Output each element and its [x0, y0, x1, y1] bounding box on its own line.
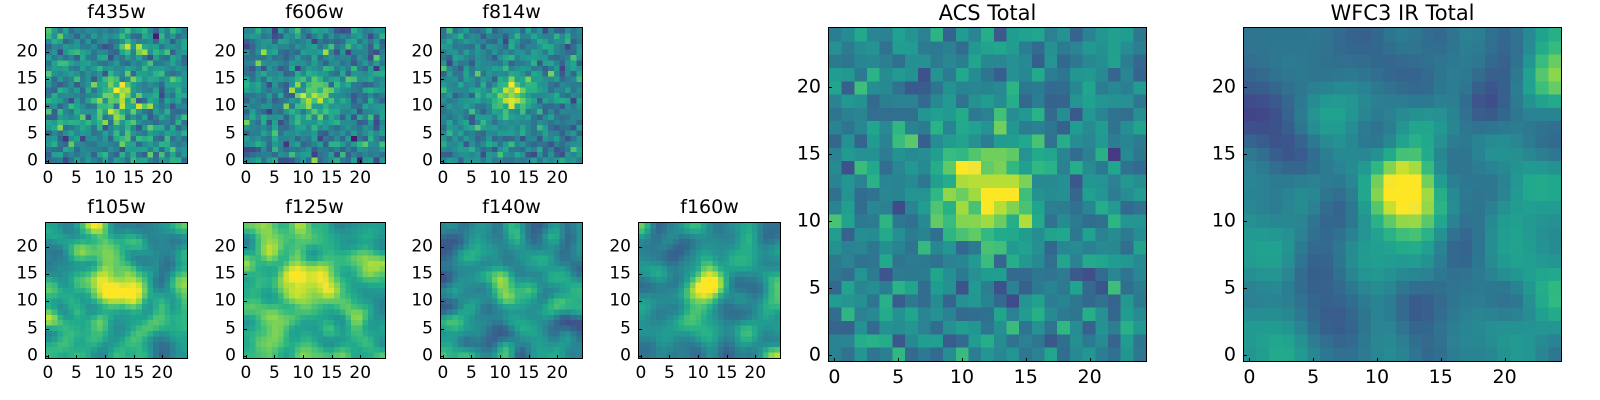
y-tick-label: 5	[422, 320, 433, 337]
y-tick-label: 20	[214, 43, 236, 60]
panel-f105w: f105w0510152005101520	[1, 196, 194, 393]
x-tick-label: 0	[42, 365, 53, 382]
x-tick-label: 10	[292, 365, 314, 382]
x-tick	[105, 160, 106, 164]
x-tick-label: 20	[546, 170, 568, 187]
x-tick-label: 20	[546, 365, 568, 382]
y-tick	[243, 301, 247, 302]
y-tick	[638, 247, 642, 248]
y-tick-label: 15	[609, 266, 631, 283]
y-tick-label: 10	[16, 293, 38, 310]
panel-title-f140w: f140w	[440, 198, 583, 217]
y-tick	[638, 301, 642, 302]
y-tick-label: 15	[214, 266, 236, 283]
y-tick	[243, 356, 247, 357]
panel-f435w: f435w0510152005101520	[1, 1, 194, 198]
x-tick	[134, 355, 135, 359]
y-tick	[638, 274, 642, 275]
x-tick-label: 0	[828, 368, 840, 387]
x-tick-label: 0	[42, 170, 53, 187]
x-tick-label: 20	[1077, 368, 1101, 387]
panel-f814w: f814w0510152005101520	[396, 1, 589, 198]
panel-title-f125w: f125w	[243, 198, 386, 217]
heatmap-wfc3_total[interactable]	[1243, 27, 1562, 362]
panel-f125w: f125w0510152005101520	[199, 196, 392, 393]
x-tick	[162, 355, 163, 359]
x-tick	[529, 160, 530, 164]
y-tick-label: 0	[27, 348, 38, 365]
x-tick-label: 15	[321, 170, 343, 187]
x-tick	[303, 355, 304, 359]
heatmap-f140w[interactable]	[440, 222, 583, 359]
x-tick	[1249, 358, 1250, 362]
y-tick	[828, 221, 832, 222]
y-tick	[243, 329, 247, 330]
y-tick-label: 20	[1212, 78, 1236, 97]
y-tick-label: 10	[797, 212, 821, 231]
y-tick-label: 15	[411, 266, 433, 283]
y-tick-label: 20	[411, 43, 433, 60]
x-tick-label: 10	[950, 368, 974, 387]
x-tick-label: 5	[71, 365, 82, 382]
x-tick	[360, 355, 361, 359]
y-tick-label: 15	[797, 145, 821, 164]
y-tick	[440, 161, 444, 162]
panel-f606w: f606w0510152005101520	[199, 1, 392, 198]
x-tick	[1441, 358, 1442, 362]
panel-title-f160w: f160w	[638, 198, 781, 217]
x-tick	[500, 355, 501, 359]
x-tick-label: 15	[518, 170, 540, 187]
y-tick-label: 5	[422, 125, 433, 142]
y-tick-label: 5	[27, 125, 38, 142]
y-tick-label: 10	[1212, 212, 1236, 231]
y-tick	[45, 161, 49, 162]
heatmap-f606w[interactable]	[243, 27, 386, 164]
x-tick	[1090, 358, 1091, 362]
panel-f140w: f140w0510152005101520	[396, 196, 589, 393]
y-tick-label: 0	[27, 153, 38, 170]
heatmap-canvas-f140w	[441, 223, 582, 358]
x-tick	[274, 160, 275, 164]
y-tick-label: 10	[609, 293, 631, 310]
heatmap-canvas-f606w	[244, 28, 385, 163]
x-tick-label: 10	[489, 170, 511, 187]
x-tick	[698, 355, 699, 359]
y-tick-label: 0	[1224, 346, 1236, 365]
x-tick	[1377, 358, 1378, 362]
x-tick-label: 15	[321, 365, 343, 382]
panel-title-acs_total: ACS Total	[828, 3, 1147, 24]
x-tick-label: 15	[123, 365, 145, 382]
x-tick-label: 20	[349, 170, 371, 187]
y-tick	[243, 52, 247, 53]
x-tick	[557, 355, 558, 359]
x-tick	[303, 160, 304, 164]
x-tick	[834, 358, 835, 362]
y-tick	[243, 106, 247, 107]
y-tick-label: 5	[1224, 279, 1236, 298]
y-tick-label: 20	[16, 43, 38, 60]
x-tick-label: 15	[1429, 368, 1453, 387]
y-tick-label: 15	[411, 71, 433, 88]
x-tick-label: 10	[687, 365, 709, 382]
y-tick	[45, 356, 49, 357]
panel-title-f435w: f435w	[45, 3, 188, 22]
heatmap-f125w[interactable]	[243, 222, 386, 359]
x-tick-label: 0	[240, 365, 251, 382]
x-tick-label: 0	[240, 170, 251, 187]
y-tick	[440, 247, 444, 248]
y-tick	[45, 329, 49, 330]
x-tick-label: 0	[437, 365, 448, 382]
panel-title-f105w: f105w	[45, 198, 188, 217]
heatmap-canvas-f435w	[46, 28, 187, 163]
y-tick-label: 5	[225, 125, 236, 142]
y-tick	[440, 106, 444, 107]
x-tick-label: 15	[1014, 368, 1038, 387]
y-tick	[45, 134, 49, 135]
x-tick	[105, 355, 106, 359]
y-tick-label: 5	[225, 320, 236, 337]
heatmap-f435w[interactable]	[45, 27, 188, 164]
panel-title-wfc3_total: WFC3 IR Total	[1243, 3, 1562, 24]
panel-title-f814w: f814w	[440, 3, 583, 22]
x-tick-label: 10	[489, 365, 511, 382]
x-tick	[76, 160, 77, 164]
y-tick-label: 0	[809, 346, 821, 365]
y-tick	[440, 274, 444, 275]
y-tick	[440, 52, 444, 53]
y-tick	[828, 87, 832, 88]
x-tick	[360, 160, 361, 164]
x-tick-label: 20	[151, 365, 173, 382]
x-tick-label: 5	[269, 365, 280, 382]
y-tick-label: 15	[1212, 145, 1236, 164]
x-tick	[529, 355, 530, 359]
x-tick-label: 10	[94, 170, 116, 187]
heatmap-f105w[interactable]	[45, 222, 188, 359]
panel-wfc3_total: WFC3 IR Total0510152005101520	[1199, 1, 1568, 396]
x-tick	[500, 160, 501, 164]
heatmap-f160w[interactable]	[638, 222, 781, 359]
y-tick	[243, 274, 247, 275]
x-tick-label: 5	[664, 365, 675, 382]
x-tick-label: 10	[94, 365, 116, 382]
x-tick	[1313, 358, 1314, 362]
panel-acs_total: ACS Total0510152005101520	[784, 1, 1153, 396]
y-tick	[45, 247, 49, 248]
y-tick-label: 10	[214, 98, 236, 115]
y-tick-label: 5	[27, 320, 38, 337]
x-tick	[134, 160, 135, 164]
x-tick	[471, 355, 472, 359]
x-tick	[1505, 358, 1506, 362]
y-tick-label: 0	[422, 153, 433, 170]
y-tick	[828, 355, 832, 356]
y-tick-label: 5	[620, 320, 631, 337]
heatmap-acs_total[interactable]	[828, 27, 1147, 362]
y-tick	[1243, 355, 1247, 356]
y-tick	[1243, 221, 1247, 222]
x-tick-label: 15	[123, 170, 145, 187]
heatmap-canvas-f105w	[46, 223, 187, 358]
y-tick-label: 0	[225, 153, 236, 170]
heatmap-canvas-wfc3_total	[1244, 28, 1561, 361]
x-tick-label: 15	[518, 365, 540, 382]
x-tick-label: 10	[292, 170, 314, 187]
y-tick-label: 20	[411, 238, 433, 255]
y-tick	[45, 106, 49, 107]
x-tick-label: 5	[892, 368, 904, 387]
y-tick	[638, 356, 642, 357]
heatmap-canvas-f814w	[441, 28, 582, 163]
x-tick	[274, 355, 275, 359]
x-tick	[962, 358, 963, 362]
y-tick-label: 10	[411, 293, 433, 310]
y-tick-label: 10	[16, 98, 38, 115]
y-tick	[440, 79, 444, 80]
y-tick	[243, 161, 247, 162]
y-tick	[1243, 288, 1247, 289]
y-tick-label: 20	[797, 78, 821, 97]
x-tick-label: 5	[71, 170, 82, 187]
y-tick	[45, 79, 49, 80]
y-tick	[45, 52, 49, 53]
figure-canvas: f435w0510152005101520f606w05101520051015…	[0, 0, 1600, 400]
heatmap-canvas-f125w	[244, 223, 385, 358]
y-tick-label: 10	[214, 293, 236, 310]
y-tick	[440, 134, 444, 135]
panel-title-f606w: f606w	[243, 3, 386, 22]
x-tick-label: 20	[744, 365, 766, 382]
x-tick-label: 0	[635, 365, 646, 382]
x-tick-label: 0	[1243, 368, 1255, 387]
y-tick-label: 0	[620, 348, 631, 365]
x-tick-label: 20	[349, 365, 371, 382]
y-tick-label: 0	[422, 348, 433, 365]
y-tick	[828, 288, 832, 289]
x-tick	[332, 160, 333, 164]
y-tick	[440, 301, 444, 302]
panel-f160w: f160w0510152005101520	[594, 196, 787, 393]
y-tick-label: 0	[225, 348, 236, 365]
y-tick-label: 20	[16, 238, 38, 255]
x-tick	[471, 160, 472, 164]
x-tick-label: 5	[1307, 368, 1319, 387]
heatmap-canvas-f160w	[639, 223, 780, 358]
y-tick	[828, 154, 832, 155]
x-tick-label: 5	[466, 170, 477, 187]
x-tick	[727, 355, 728, 359]
y-tick-label: 5	[809, 279, 821, 298]
x-tick-label: 5	[466, 365, 477, 382]
y-tick-label: 15	[16, 71, 38, 88]
y-tick	[440, 329, 444, 330]
y-tick-label: 15	[214, 71, 236, 88]
x-tick-label: 20	[1492, 368, 1516, 387]
x-tick	[557, 160, 558, 164]
x-tick-label: 5	[269, 170, 280, 187]
x-tick	[755, 355, 756, 359]
x-tick	[332, 355, 333, 359]
x-tick-label: 20	[151, 170, 173, 187]
y-tick	[243, 134, 247, 135]
y-tick-label: 15	[16, 266, 38, 283]
x-tick	[76, 355, 77, 359]
x-tick-label: 0	[437, 170, 448, 187]
y-tick	[1243, 87, 1247, 88]
y-tick	[440, 356, 444, 357]
x-tick	[898, 358, 899, 362]
x-tick	[1026, 358, 1027, 362]
heatmap-canvas-acs_total	[829, 28, 1146, 361]
y-tick	[638, 329, 642, 330]
y-tick	[1243, 154, 1247, 155]
x-tick	[162, 160, 163, 164]
y-tick	[243, 247, 247, 248]
y-tick	[45, 274, 49, 275]
x-tick-label: 10	[1365, 368, 1389, 387]
x-tick	[669, 355, 670, 359]
y-tick	[45, 301, 49, 302]
y-tick-label: 20	[609, 238, 631, 255]
heatmap-f814w[interactable]	[440, 27, 583, 164]
x-tick-label: 15	[716, 365, 738, 382]
y-tick	[243, 79, 247, 80]
y-tick-label: 10	[411, 98, 433, 115]
y-tick-label: 20	[214, 238, 236, 255]
